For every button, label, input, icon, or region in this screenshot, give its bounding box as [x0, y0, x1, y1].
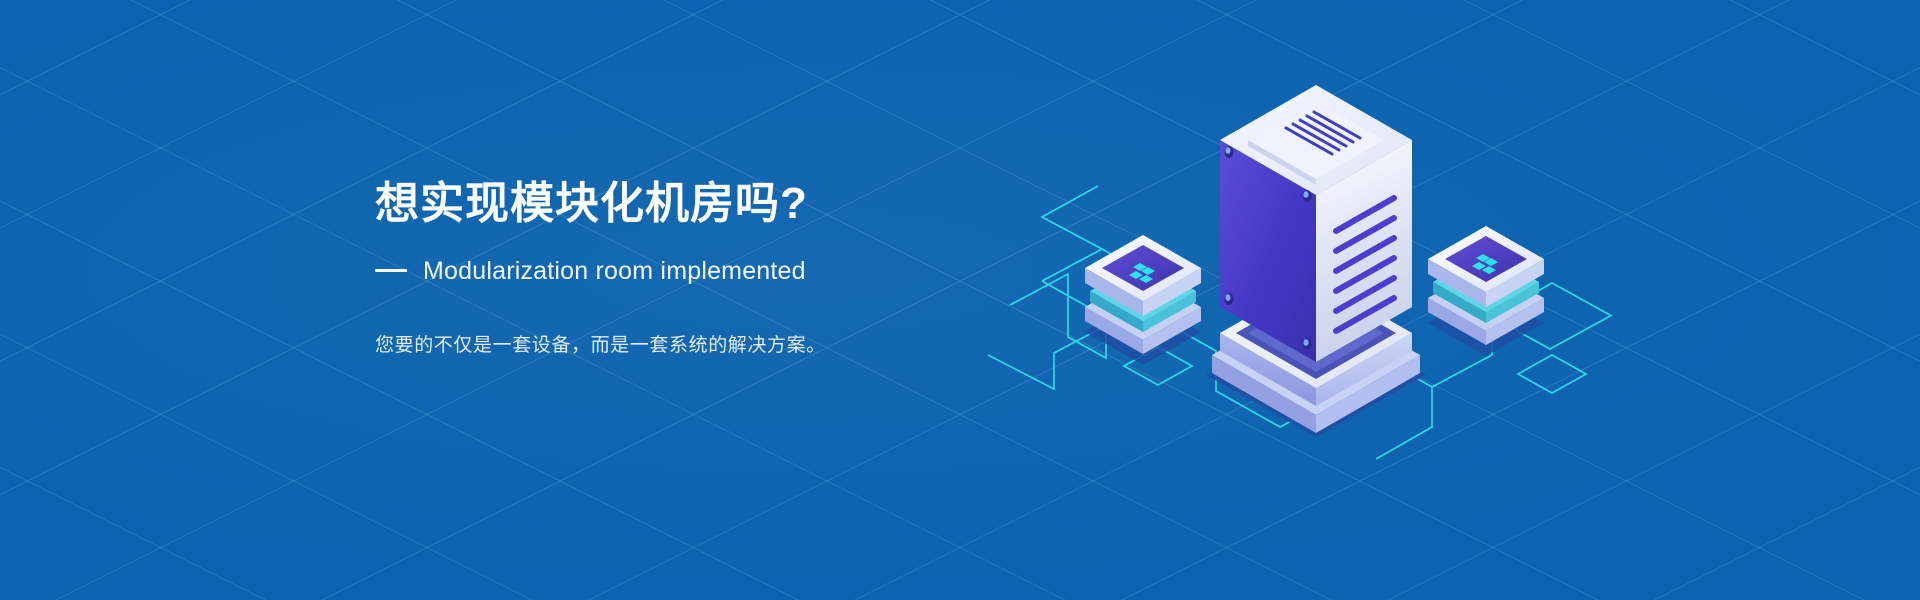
body-text: 您要的不仅是一套设备，而是一套系统的解决方案。 — [375, 330, 1135, 362]
subtitle-text: Modularization room implemented — [423, 256, 806, 286]
hero-banner: 想实现模块化机房吗? Modularization room implement… — [0, 0, 1920, 600]
page-title: 想实现模块化机房吗? — [375, 178, 1135, 230]
dash-icon — [375, 269, 407, 272]
subtitle-row: Modularization room implemented — [375, 256, 1135, 286]
diamond-node-right — [1518, 355, 1586, 393]
server-tower — [1220, 85, 1412, 362]
hero-copy-block: 想实现模块化机房吗? Modularization room implement… — [375, 178, 1135, 381]
